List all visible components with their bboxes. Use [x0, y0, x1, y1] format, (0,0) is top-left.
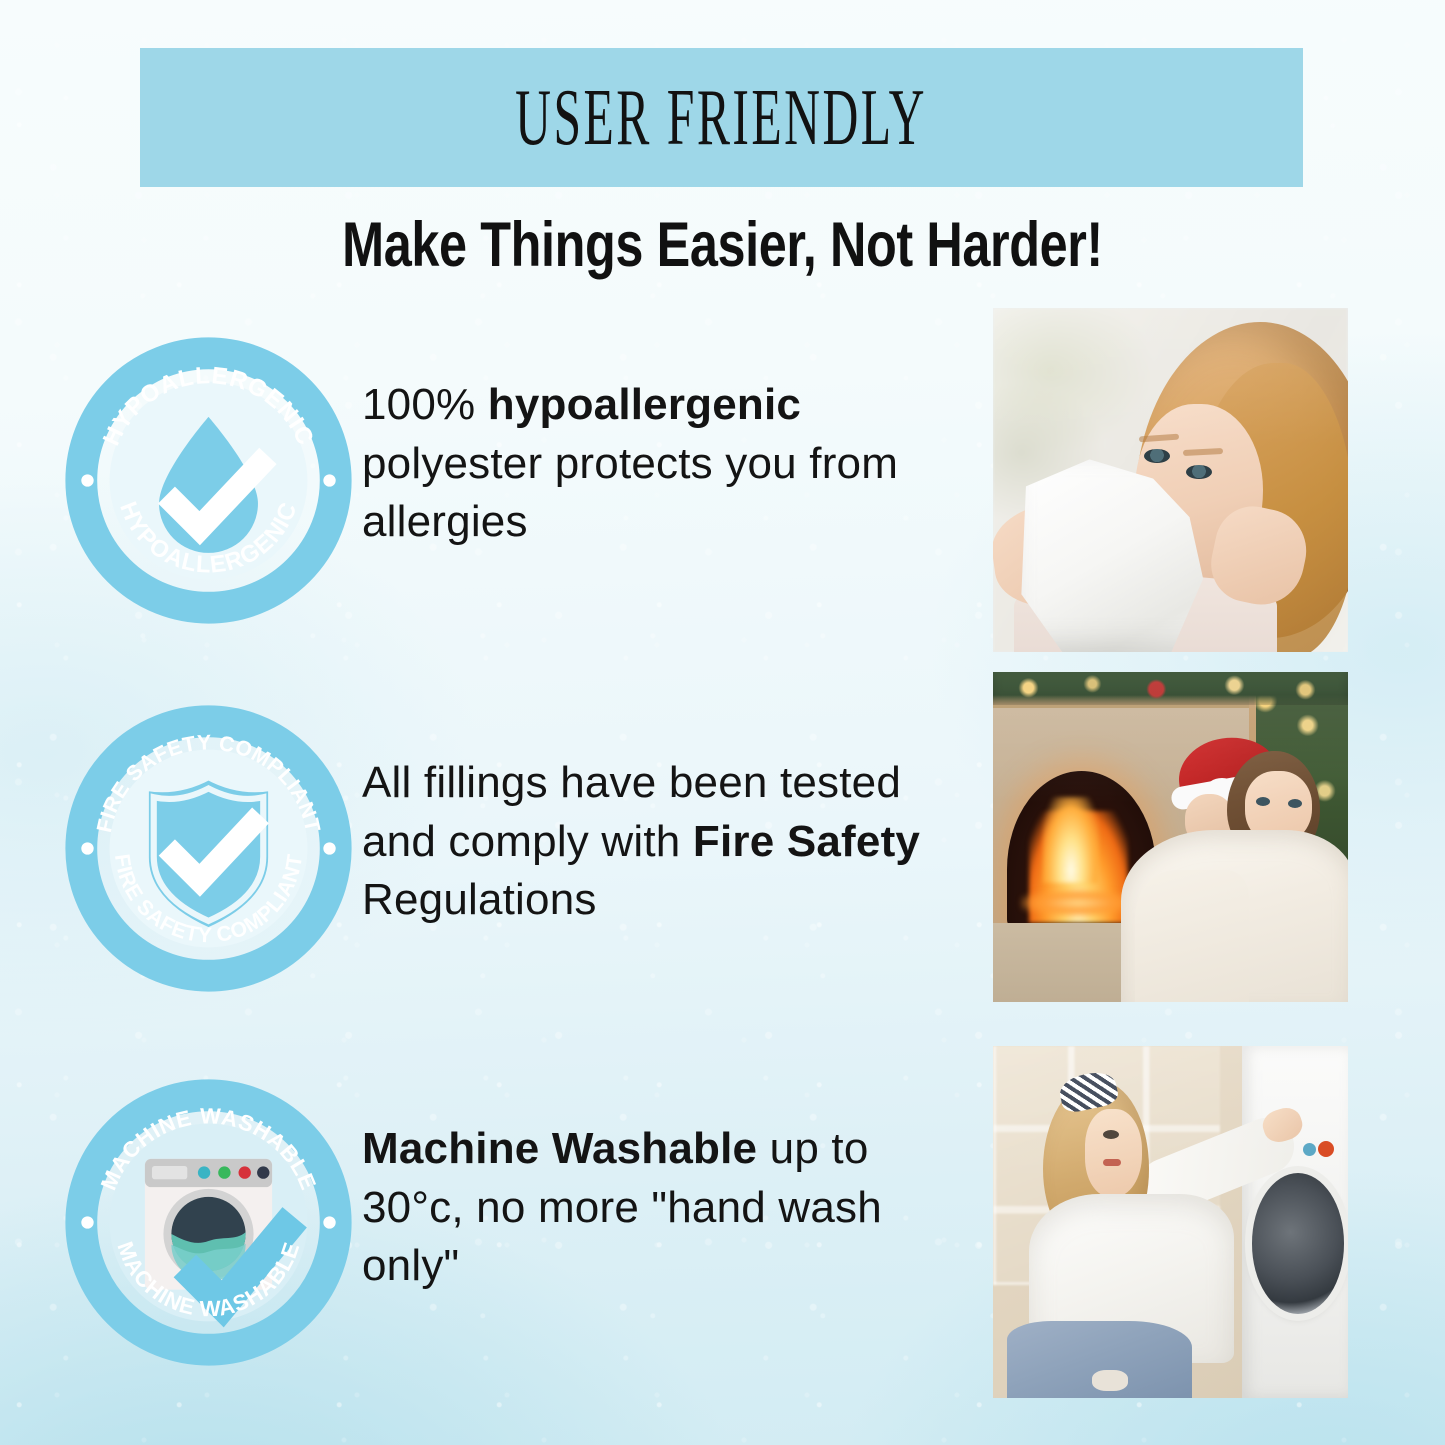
feature-row-machine-washable: MACHINE WASHABLE MACHINE WASHABLE Machin…	[60, 1090, 960, 1355]
feature-text-fire-safety: All fillings have been tested and comply…	[356, 716, 960, 930]
feature-text-part: Regulations	[362, 875, 597, 924]
fireplace-christmas-photo	[993, 672, 1348, 1002]
header-banner: USER FRIENDLY	[140, 48, 1303, 187]
badge-container: HYPOALLERGENIC HYPOALLERGENIC	[60, 348, 356, 613]
badge-container: FIRE SAFETY COMPLIANT FIRE SAFETY COMPLI…	[60, 716, 356, 981]
infographic-page: USER FRIENDLY Make Things Easier, Not Ha…	[0, 0, 1445, 1445]
feature-text-machine-washable: Machine Washable up to 30°c, no more "ha…	[356, 1090, 960, 1296]
feature-text-hypoallergenic: 100% hypoallergenic polyester protects y…	[356, 348, 960, 552]
subheading: Make Things Easier, Not Harder!	[145, 214, 1301, 277]
page-title: USER FRIENDLY	[516, 78, 928, 158]
girl-with-tissue-photo	[993, 308, 1348, 652]
woman-at-washing-machine-photo	[993, 1046, 1348, 1398]
feature-text-emphasis: hypoallergenic	[488, 380, 801, 429]
hypoallergenic-badge: HYPOALLERGENIC HYPOALLERGENIC	[76, 348, 341, 613]
feature-text-part: 100%	[362, 380, 488, 429]
feature-text-part: polyester protects you from allergies	[362, 439, 898, 547]
feature-text-emphasis: Fire Safety	[693, 817, 920, 866]
badge-container: MACHINE WASHABLE MACHINE WASHABLE	[60, 1090, 356, 1355]
feature-row-fire-safety: FIRE SAFETY COMPLIANT FIRE SAFETY COMPLI…	[60, 716, 960, 981]
feature-text-emphasis: Machine Washable	[362, 1124, 757, 1173]
fire-safety-badge: FIRE SAFETY COMPLIANT FIRE SAFETY COMPLI…	[76, 716, 341, 981]
feature-row-hypoallergenic: HYPOALLERGENIC HYPOALLERGENIC 100% hypoa…	[60, 348, 960, 613]
machine-washable-badge: MACHINE WASHABLE MACHINE WASHABLE	[76, 1090, 341, 1355]
